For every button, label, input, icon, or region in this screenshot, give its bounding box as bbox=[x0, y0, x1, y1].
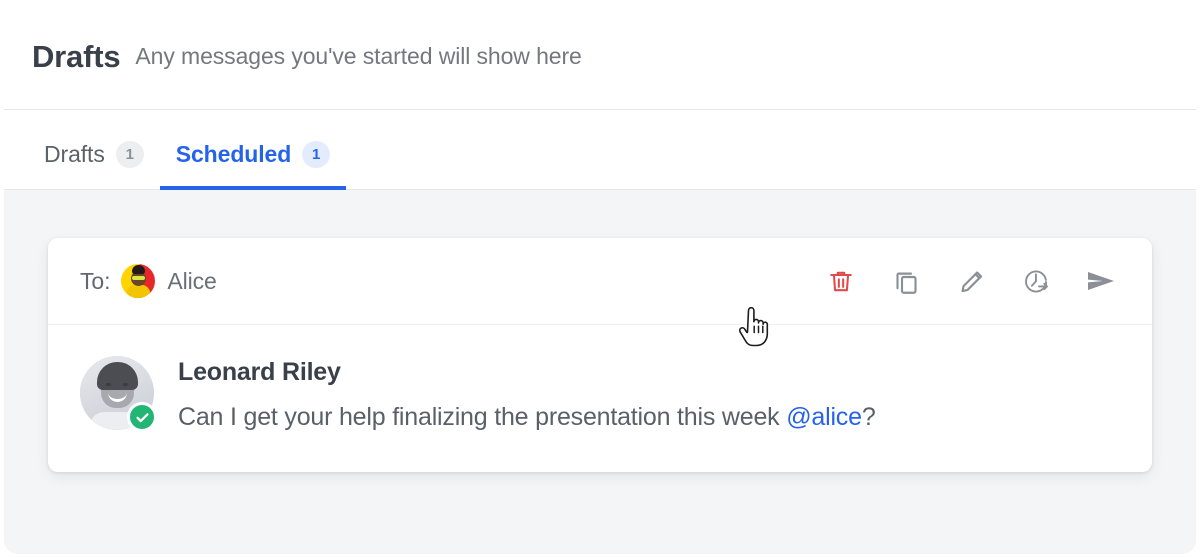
author-avatar-wrap bbox=[80, 356, 154, 430]
recipient-name: Alice bbox=[167, 268, 216, 295]
tab-drafts[interactable]: Drafts 1 bbox=[28, 141, 160, 190]
content-area: To: Alice bbox=[4, 190, 1196, 554]
verified-check-icon bbox=[127, 402, 157, 432]
page-title: Drafts bbox=[32, 39, 120, 75]
app-window: Drafts Any messages you've started will … bbox=[4, 4, 1196, 554]
card-actions bbox=[824, 264, 1118, 298]
recipient-avatar bbox=[121, 264, 155, 298]
tab-scheduled-badge: 1 bbox=[302, 141, 330, 168]
recipient-label: To: bbox=[80, 268, 110, 295]
send-icon[interactable] bbox=[1084, 264, 1118, 298]
message-mention[interactable]: @alice bbox=[786, 403, 862, 431]
message-text-before: Can I get your help finalizing the prese… bbox=[178, 403, 786, 431]
edit-icon[interactable] bbox=[954, 264, 988, 298]
duplicate-icon[interactable] bbox=[889, 264, 923, 298]
reschedule-icon[interactable] bbox=[1019, 264, 1053, 298]
card-body: Leonard Riley Can I get your help finali… bbox=[48, 325, 1152, 472]
message-text-after: ? bbox=[862, 403, 876, 431]
delete-icon[interactable] bbox=[824, 264, 858, 298]
tab-bar: Drafts 1 Scheduled 1 bbox=[4, 110, 1196, 190]
scheduled-message-card: To: Alice bbox=[48, 238, 1152, 472]
page-header: Drafts Any messages you've started will … bbox=[4, 4, 1196, 110]
tab-drafts-label: Drafts bbox=[44, 141, 105, 168]
message-text-column: Leonard Riley Can I get your help finali… bbox=[178, 353, 876, 432]
message-author: Leonard Riley bbox=[178, 358, 876, 387]
tab-scheduled[interactable]: Scheduled 1 bbox=[160, 141, 346, 190]
message-text: Can I get your help finalizing the prese… bbox=[178, 403, 876, 432]
tab-scheduled-label: Scheduled bbox=[176, 141, 291, 168]
tab-drafts-badge: 1 bbox=[116, 141, 144, 168]
card-header: To: Alice bbox=[48, 238, 1152, 325]
page-subtitle: Any messages you've started will show he… bbox=[135, 43, 581, 70]
